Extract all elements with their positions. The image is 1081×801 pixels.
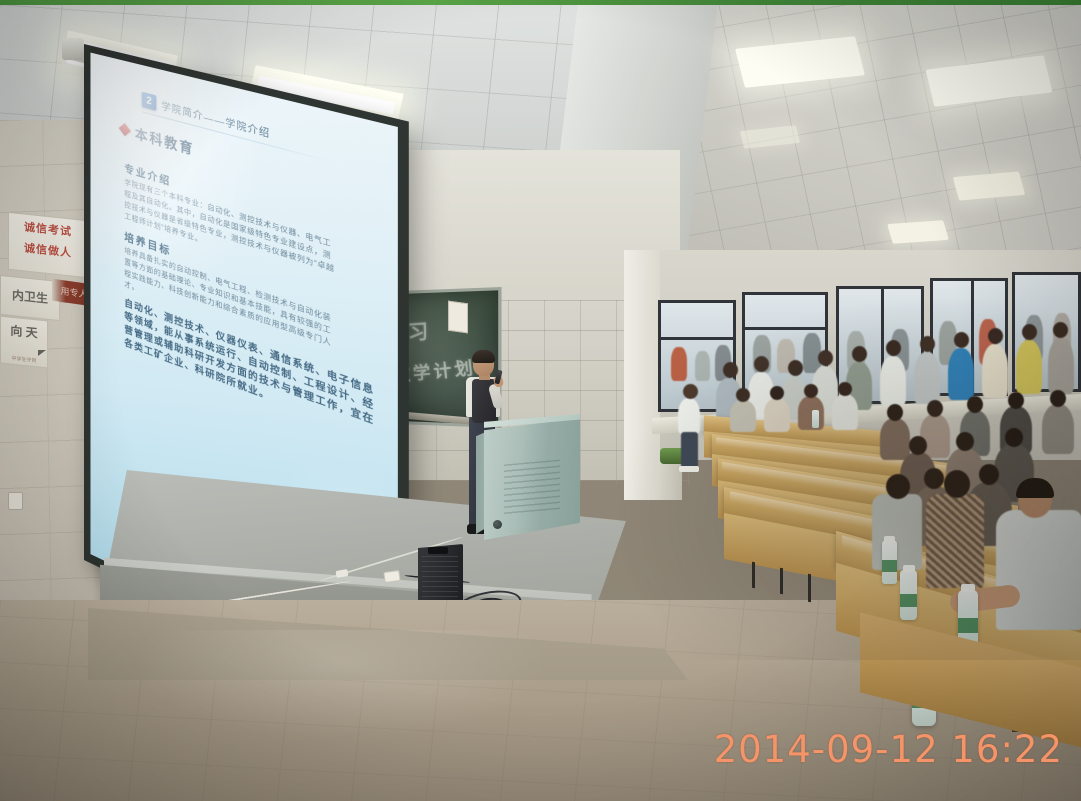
audience-head <box>723 362 738 378</box>
integrity-poster: 诚信考试 诚信做人 <box>8 212 88 278</box>
seated-audience <box>1048 338 1074 394</box>
floor-speaker-port <box>428 547 448 554</box>
audience-head <box>988 328 1003 344</box>
desk-support-leg <box>780 568 783 595</box>
foreground-audience-body <box>996 510 1081 630</box>
audience-head <box>736 388 750 402</box>
audience-head <box>770 386 784 400</box>
standing-student-head <box>683 384 698 399</box>
audience-head <box>852 346 867 362</box>
top-color-band <box>0 0 1081 5</box>
window-2-transom <box>745 327 825 330</box>
presenter-hair <box>472 350 495 363</box>
cable-plug-adapter <box>383 570 400 583</box>
lectern-vent-slots <box>504 460 560 515</box>
seated-audience <box>1016 340 1042 394</box>
water-bottle-label <box>958 618 978 633</box>
audience-head <box>979 464 999 485</box>
wall-notice-sheet <box>448 301 468 334</box>
hygiene-poster: 内卫生 <box>0 275 60 321</box>
seated-audience <box>948 348 974 400</box>
water-bottle-label <box>882 560 897 572</box>
audience-head <box>909 436 927 455</box>
audience-head <box>818 350 833 366</box>
seated-audience <box>914 352 940 404</box>
standing-student-body <box>678 398 700 434</box>
projection-screen-roller-end-cap <box>62 38 84 60</box>
outside-figure <box>671 347 687 381</box>
audience-head <box>754 356 769 372</box>
audience-head <box>1022 324 1037 340</box>
standing-student-shoes <box>679 466 699 472</box>
seated-audience-patterned <box>926 494 984 588</box>
desk-support-leg <box>808 574 811 603</box>
audience-head <box>924 468 944 489</box>
water-bottle-cap <box>961 584 975 592</box>
audience-head <box>804 384 818 398</box>
audience-head <box>920 336 935 352</box>
water-bottle-cap <box>903 565 915 572</box>
lower-poster: 向 天 中学生守则 <box>0 315 48 368</box>
audience-head <box>1050 390 1066 407</box>
lectern-knob <box>493 520 502 529</box>
audience-head <box>967 396 983 413</box>
window-1-transom <box>661 337 733 340</box>
audience-head <box>886 340 901 356</box>
floor-speaker-grill <box>422 556 458 602</box>
desk-support-leg <box>752 562 755 589</box>
seated-audience <box>880 418 910 460</box>
seated-audience <box>764 398 790 432</box>
audience-head <box>886 474 910 499</box>
seated-audience <box>832 394 858 430</box>
water-bottle-label <box>900 594 917 607</box>
seated-audience <box>872 494 922 570</box>
foreground-audience-hair <box>1016 478 1054 498</box>
audience-head <box>838 382 852 396</box>
outside-figure <box>695 351 710 381</box>
hygiene-poster-text: 内卫生 <box>1 276 59 308</box>
audience-head <box>887 404 903 421</box>
audience-head <box>956 432 974 451</box>
audience-head <box>1005 428 1023 447</box>
audience-head <box>1008 392 1024 409</box>
seated-audience <box>798 396 824 430</box>
camera-timestamp: 2014-09-12 16:22 <box>714 728 1063 771</box>
audience-head <box>927 400 943 417</box>
seated-audience <box>730 400 756 432</box>
photograph: 诚信考试 诚信做人 内卫生 用专人负责 向 天 中学生守则 预习 教学计划 2 … <box>0 0 1081 801</box>
audience-head <box>1053 322 1068 338</box>
power-outlet <box>8 492 23 510</box>
audience-head <box>788 360 803 376</box>
seated-audience <box>1042 404 1074 454</box>
seated-audience <box>880 356 906 406</box>
water-bottle-cap <box>884 536 895 543</box>
seated-audience <box>982 344 1008 398</box>
water-bottle <box>812 410 819 428</box>
audience-head <box>944 470 970 498</box>
standing-student-legs <box>681 432 698 470</box>
audience-head <box>954 332 969 348</box>
poster-arrow-marker <box>38 350 46 356</box>
floor-reflection <box>130 630 550 740</box>
ceiling-light-panel-8 <box>887 220 949 244</box>
